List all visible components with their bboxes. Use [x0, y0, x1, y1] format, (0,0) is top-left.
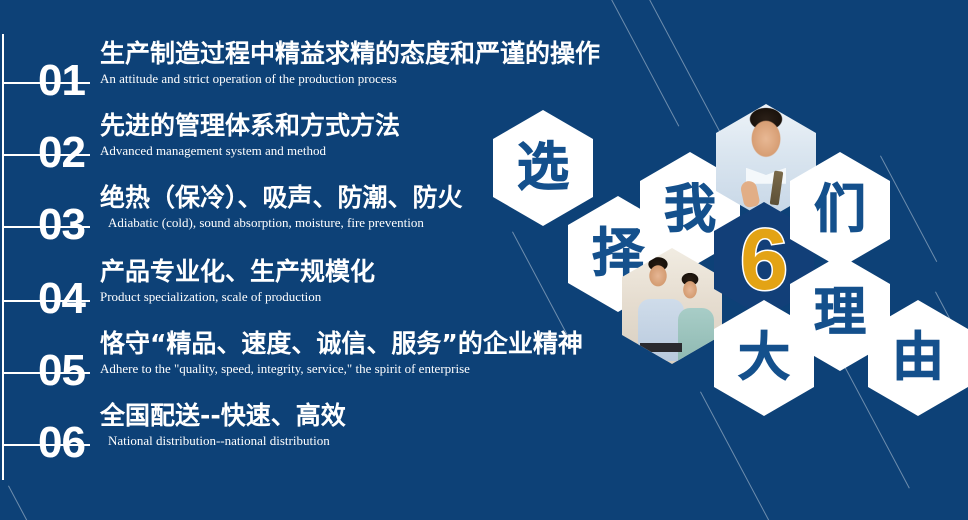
hex-label-da: 大	[738, 332, 790, 384]
hex-label-li: 理	[814, 287, 866, 339]
photo-belt	[640, 343, 682, 352]
banner-root: 01 生产制造过程中精益求精的态度和严谨的操作 An attitude and …	[0, 0, 968, 520]
hex-label-you: 由	[892, 332, 944, 384]
hex-cell-xuan[interactable]: 选	[493, 110, 593, 226]
hex-label-men: 们	[814, 184, 866, 236]
photo-shirt-woman	[678, 308, 714, 362]
hex-label-wo: 我	[664, 184, 716, 236]
hexagon-cluster: 选 择 我 6 大 们	[0, 0, 968, 520]
hex-label-six: 6	[740, 217, 788, 303]
hex-label-xuan: 选	[517, 142, 569, 194]
